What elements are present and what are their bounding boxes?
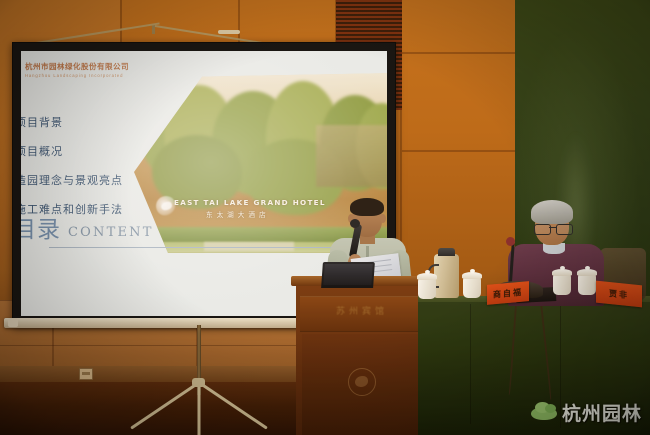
toc-item-1: 项目背景 [21,114,195,130]
slide-toc-list: 项目背景 项目概况 造园理念与景观亮点 施工难点和创新手法 [21,114,195,230]
watermark-text: 杭州园林 [562,399,642,426]
teacup-knob [425,270,430,274]
eyeglasses-icon [534,224,571,233]
tripod-leg [198,385,201,435]
laptop-screen[interactable] [323,264,372,285]
podium-laptop [321,262,375,288]
nameplate-left: 商自福 [487,281,529,305]
glasses-lens-right [556,224,573,235]
tablecloth-fold [470,304,471,424]
teacup-lid [417,273,437,280]
teacup-knob [560,266,565,270]
teacup [418,278,436,299]
teacup [463,277,481,298]
teacup [553,274,571,295]
screen-roller [218,30,240,34]
company-name-cn: 杭州市园林绿化股份有限公司 [25,61,185,72]
teacup-lid [577,269,597,276]
screen-end-cap [8,318,18,327]
leaf-shape-right [545,404,556,413]
wall-outlet [79,368,93,380]
glasses-bridge [549,227,556,228]
speaker-hair [350,198,384,216]
podium-emblem-icon [348,368,376,396]
slide-toc-heading: 目录 CONTENT [21,219,154,242]
toc-heading-en: CONTENT [68,225,154,240]
teacup-lid [462,272,482,279]
teacup-knob [585,266,590,270]
company-name-en: Hangzhou Landscaping Incorporated [25,73,185,78]
toc-item-4: 施工难点和创新手法 [21,201,195,217]
photo-building [316,125,387,187]
screenshot-stage: 杭州市园林绿化股份有限公司 Hangzhou Landscaping Incor… [0,0,650,435]
nameplate-right-text: 贾非 [609,287,629,300]
hangzhou-garden-leaf-icon [531,402,557,424]
teacup [578,274,596,295]
tripod-hub [192,378,205,387]
wall-seam [402,150,517,152]
wall-seam [402,52,517,54]
toc-item-2: 项目概况 [21,143,195,159]
glasses-lens-left [534,224,551,235]
attendee-hair [531,200,573,224]
thermos-flask [434,254,459,298]
toc-heading-cn: 目录 [21,219,61,242]
slide-company-logo: 杭州市园林绿化股份有限公司 Hangzhou Landscaping Incor… [25,61,185,78]
thermos-lid [438,248,455,256]
toc-item-3: 造园理念与景观亮点 [21,172,195,188]
nameplate-right: 贾非 [596,281,642,308]
table-microphone-head-icon [506,237,515,246]
speaker-ear-right [380,214,386,223]
teacup-lid [552,269,572,276]
nameplate-left-text: 商自福 [493,286,523,300]
teacup-knob [470,269,475,273]
microphone-head-icon [350,219,360,228]
podium-venue-text: 苏州宾馆 [312,304,412,317]
watermark: 杭州园林 [531,399,642,426]
